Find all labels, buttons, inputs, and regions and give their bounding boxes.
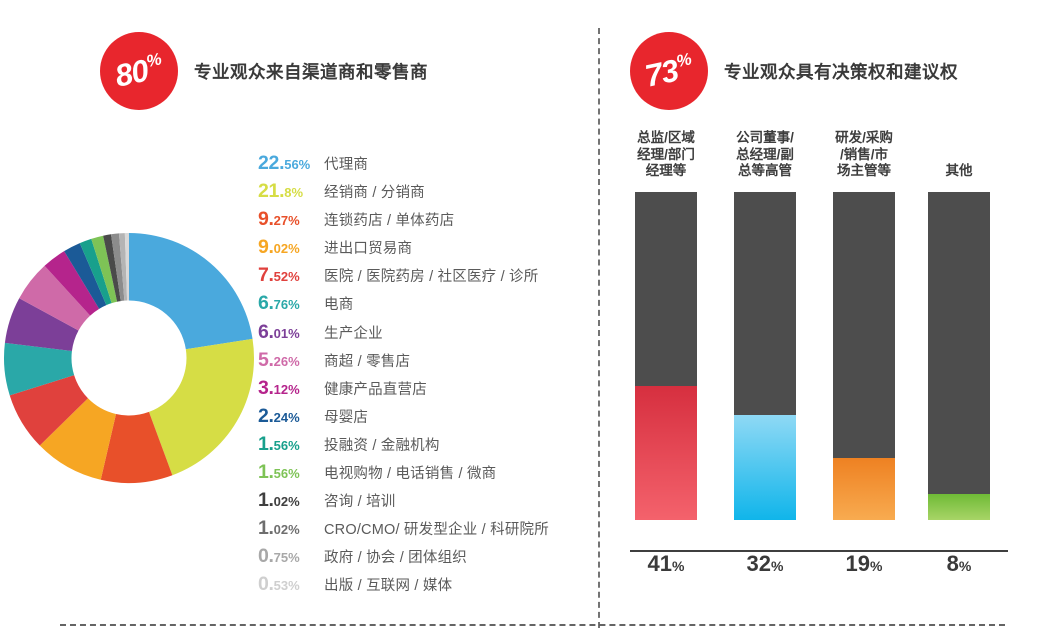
bar-value-percent-sign: % — [771, 558, 783, 574]
legend-value-decimal: 52% — [274, 269, 300, 284]
bar-column-header: 公司董事/ 总经理/副 总等高管 — [734, 130, 796, 186]
bar-column-header: 总监/区域 经理/部门 经理等 — [635, 130, 697, 186]
legend-value: 5.26% — [258, 349, 324, 372]
legend-value-integer: 1. — [258, 461, 274, 483]
bar-fill — [928, 494, 990, 520]
legend-value-integer: 6. — [258, 292, 274, 314]
legend-value: 6.76% — [258, 292, 324, 315]
legend-value-decimal: 01% — [274, 326, 300, 341]
legend-label: 母婴店 — [324, 406, 368, 427]
legend-label: 经销商 / 分销商 — [324, 181, 425, 202]
legend-label: 咨询 / 培训 — [324, 490, 396, 511]
legend-row: 22.56%代理商 — [258, 152, 588, 180]
legend-value-decimal: 56% — [274, 466, 300, 481]
bar-value-label: 32% — [726, 551, 804, 577]
legend-value: 21.8% — [258, 180, 324, 203]
legend-label: 进出口贸易商 — [324, 237, 412, 258]
bar-column: 总监/区域 经理/部门 经理等41% — [635, 130, 697, 605]
legend-row: 1.02%咨询 / 培训 — [258, 489, 588, 517]
bar-fill — [833, 458, 895, 520]
legend-value-integer: 1. — [258, 433, 274, 455]
bar-fill — [734, 415, 796, 520]
legend-value-integer: 9. — [258, 208, 274, 230]
left-panel-title: 专业观众来自渠道商和零售商 — [194, 59, 428, 84]
bar-value-label: 41% — [627, 551, 705, 577]
bar-value-percent-sign: % — [672, 558, 684, 574]
legend-label: 连锁药店 / 单体药店 — [324, 209, 454, 230]
bar-value-number: 32 — [747, 551, 771, 576]
legend-value-decimal: 24% — [274, 410, 300, 425]
legend-row: 0.75%政府 / 协会 / 团体组织 — [258, 545, 588, 573]
bar-column-header: 其他 — [928, 130, 990, 186]
legend-value-integer: 0. — [258, 545, 274, 567]
legend-value: 2.24% — [258, 405, 324, 428]
bar-value-number: 19 — [846, 551, 870, 576]
legend-row: 5.26%商超 / 零售店 — [258, 349, 588, 377]
legend-row: 1.56%投融资 / 金融机构 — [258, 433, 588, 461]
legend-label: 健康产品直营店 — [324, 378, 427, 399]
bar-column-header: 研发/采购 /销售/市 场主管等 — [833, 130, 895, 186]
legend-label: CRO/CMO/ 研发型企业 / 科研院所 — [324, 518, 549, 539]
bar-value-number: 41 — [648, 551, 672, 576]
legend-label: 电商 — [324, 293, 353, 314]
legend-value-decimal: 56% — [274, 438, 300, 453]
legend-value-integer: 7. — [258, 264, 274, 286]
legend-row: 3.12%健康产品直营店 — [258, 377, 588, 405]
legend-value-integer: 9. — [258, 236, 274, 258]
legend-row: 21.8%经销商 / 分销商 — [258, 180, 588, 208]
legend-value: 1.56% — [258, 461, 324, 484]
bar-value-percent-sign: % — [870, 558, 882, 574]
badge-percent-sign: % — [145, 50, 163, 70]
legend-label: 代理商 — [324, 153, 368, 174]
legend-row: 9.02%进出口贸易商 — [258, 236, 588, 264]
legend-value: 0.53% — [258, 573, 324, 596]
vertical-divider — [598, 28, 600, 628]
legend-value-decimal: 02% — [274, 522, 300, 537]
legend-value-decimal: 26% — [274, 354, 300, 369]
donut-chart — [3, 232, 255, 484]
legend-value-integer: 6. — [258, 321, 274, 343]
bar-column: 公司董事/ 总经理/副 总等高管32% — [734, 130, 796, 605]
legend-value-decimal: 02% — [274, 494, 300, 509]
legend-value-integer: 1. — [258, 517, 274, 539]
bar-value-number: 8 — [947, 551, 959, 576]
legend-value: 1.02% — [258, 517, 324, 540]
bar-value-label: 19% — [825, 551, 903, 577]
legend-value-decimal: 56% — [284, 157, 310, 172]
legend-value-decimal: 02% — [274, 241, 300, 256]
legend-value-integer: 21. — [258, 180, 284, 202]
left-panel-header: 80 % 专业观众来自渠道商和零售商 — [100, 32, 428, 110]
bar-column: 研发/采购 /销售/市 场主管等19% — [833, 130, 895, 605]
legend-row: 7.52%医院 / 医院药房 / 社区医疗 / 诊所 — [258, 264, 588, 292]
bottom-divider — [60, 624, 1005, 626]
legend-row: 1.56%电视购物 / 电话销售 / 微商 — [258, 461, 588, 489]
legend-label: 出版 / 互联网 / 媒体 — [324, 574, 452, 595]
legend-label: 商超 / 零售店 — [324, 350, 410, 371]
legend-value-decimal: 75% — [274, 550, 300, 565]
bar-fill — [635, 386, 697, 520]
legend-value-decimal: 76% — [274, 297, 300, 312]
legend-label: 生产企业 — [324, 322, 383, 343]
legend-value-integer: 22. — [258, 152, 284, 174]
legend-value-decimal: 53% — [274, 578, 300, 593]
badge-percent-sign: % — [675, 50, 693, 70]
legend-row: 6.01%生产企业 — [258, 321, 588, 349]
badge-number: 80 — [112, 54, 150, 91]
legend-value-integer: 2. — [258, 405, 274, 427]
right-panel-header: 73 % 专业观众具有决策权和建议权 — [630, 32, 958, 110]
legend-value: 0.75% — [258, 545, 324, 568]
right-panel-title: 专业观众具有决策权和建议权 — [724, 59, 958, 84]
legend-value-decimal: 12% — [274, 382, 300, 397]
bar-value-label: 8% — [920, 551, 998, 577]
legend-row: 2.24%母婴店 — [258, 405, 588, 433]
bar-value-percent-sign: % — [959, 558, 971, 574]
bar-chart: 总监/区域 经理/部门 经理等41%公司董事/ 总经理/副 总等高管32%研发/… — [630, 130, 1010, 605]
legend-label: 投融资 / 金融机构 — [324, 434, 440, 455]
legend-row: 1.02%CRO/CMO/ 研发型企业 / 科研院所 — [258, 517, 588, 545]
badge-80-percent: 80 % — [100, 32, 178, 110]
badge-number: 73 — [642, 54, 680, 91]
legend-value-integer: 0. — [258, 573, 274, 595]
donut-legend: 22.56%代理商21.8%经销商 / 分销商9.27%连锁药店 / 单体药店9… — [258, 152, 588, 602]
legend-value-integer: 5. — [258, 349, 274, 371]
legend-row: 0.53%出版 / 互联网 / 媒体 — [258, 573, 588, 601]
bar-track — [734, 192, 796, 520]
legend-value: 6.01% — [258, 321, 324, 344]
legend-value: 9.27% — [258, 208, 324, 231]
badge-73-percent: 73 % — [630, 32, 708, 110]
donut-segment — [129, 233, 253, 349]
legend-value: 3.12% — [258, 377, 324, 400]
legend-value-integer: 1. — [258, 489, 274, 511]
legend-row: 6.76%电商 — [258, 292, 588, 320]
bar-track — [635, 192, 697, 520]
donut-chart-svg — [3, 232, 255, 484]
legend-value-integer: 3. — [258, 377, 274, 399]
legend-value: 22.56% — [258, 152, 324, 175]
bar-track — [928, 192, 990, 520]
legend-value: 1.56% — [258, 433, 324, 456]
legend-value-decimal: 27% — [274, 213, 300, 228]
bar-column: 其他8% — [928, 130, 990, 605]
legend-row: 9.27%连锁药店 / 单体药店 — [258, 208, 588, 236]
legend-value: 7.52% — [258, 264, 324, 287]
legend-value: 9.02% — [258, 236, 324, 259]
legend-label: 电视购物 / 电话销售 / 微商 — [324, 462, 496, 483]
legend-label: 政府 / 协会 / 团体组织 — [324, 546, 467, 567]
legend-label: 医院 / 医院药房 / 社区医疗 / 诊所 — [324, 265, 538, 286]
bar-track — [833, 192, 895, 520]
legend-value-decimal: 8% — [284, 185, 303, 200]
legend-value: 1.02% — [258, 489, 324, 512]
